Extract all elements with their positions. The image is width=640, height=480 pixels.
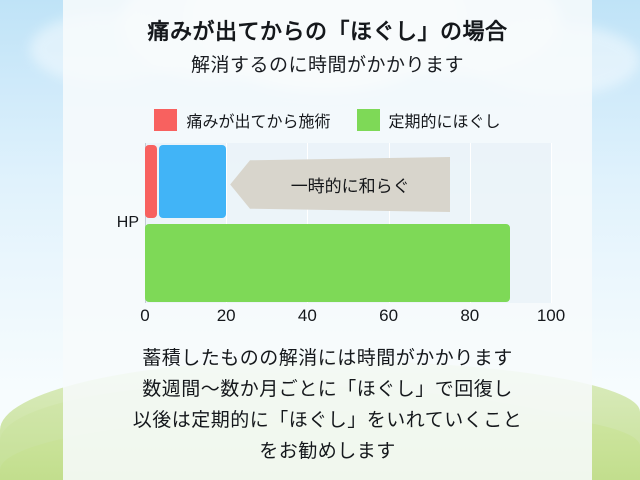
- legend-item-pain-treatment: 痛みが出てから施術: [154, 108, 330, 132]
- chart-legend: 痛みが出てから施術 定期的にほぐし: [63, 108, 592, 132]
- x-axis-tick: 0: [140, 306, 149, 326]
- legend-swatch-red: [154, 109, 177, 131]
- footer-line: 以後は定期的に「ほぐし」をいれていくこと: [63, 405, 592, 436]
- x-axis-tick: 60: [379, 306, 398, 326]
- legend-label-pain-treatment: 痛みが出てから施術: [186, 108, 330, 132]
- legend-swatch-green: [357, 109, 380, 131]
- slide-canvas: 痛みが出てからの「ほぐし」の場合 解消するのに時間がかかります 痛みが出てから施…: [0, 0, 640, 480]
- footer-line: 数週間〜数か月ごとに「ほぐし」で回復し: [63, 374, 592, 405]
- bar-temporary-relief: [159, 145, 226, 218]
- x-axis-tick: 80: [460, 306, 479, 326]
- bar-chart: HP 一時的に和らぐ 020406080100: [63, 140, 592, 330]
- bar-pain-treatment: [145, 145, 157, 218]
- x-axis-tick: 40: [298, 306, 317, 326]
- bar-regular-care: [145, 224, 510, 302]
- category-label-hp: HP: [63, 214, 139, 232]
- callout-label: 一時的に和らぐ: [271, 172, 410, 197]
- page-title: 痛みが出てからの「ほぐし」の場合: [63, 14, 592, 46]
- page-subtitle: 解消するのに時間がかかります: [63, 50, 592, 77]
- legend-label-regular-care: 定期的にほぐし: [389, 108, 501, 132]
- x-axis-tick: 100: [537, 306, 565, 326]
- content-panel: 痛みが出てからの「ほぐし」の場合 解消するのに時間がかかります 痛みが出てから施…: [63, 0, 592, 480]
- callout-temporary-relief: 一時的に和らぐ: [230, 157, 450, 212]
- footer-line: 蓄積したものの解消には時間がかかります: [63, 343, 592, 374]
- legend-item-regular-care: 定期的にほぐし: [357, 108, 501, 132]
- x-axis-tick: 20: [217, 306, 236, 326]
- footer-note: 蓄積したものの解消には時間がかかります 数週間〜数か月ごとに「ほぐし」で回復し …: [63, 343, 592, 467]
- gridline: [551, 143, 552, 303]
- footer-line: をお勧めします: [63, 436, 592, 467]
